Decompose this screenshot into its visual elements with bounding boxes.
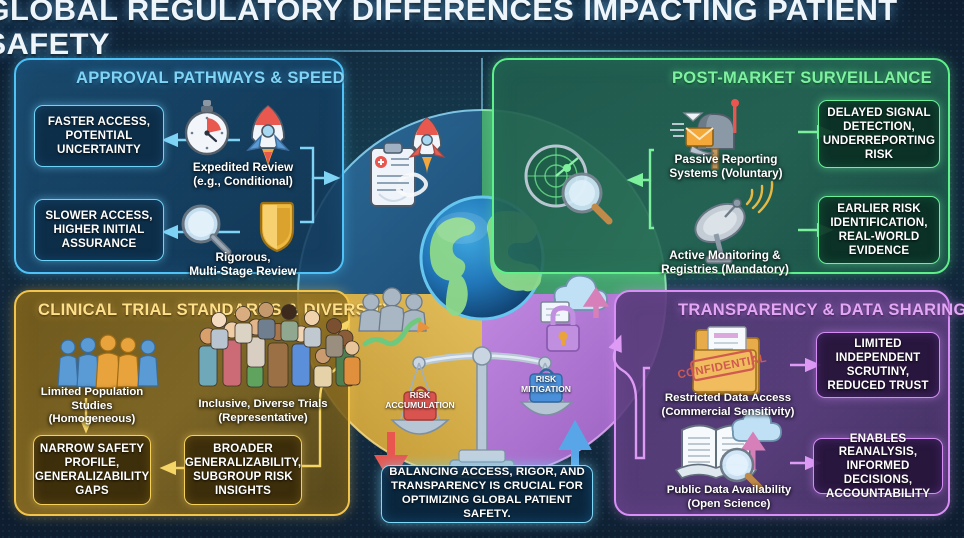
infographic-canvas: GLOBAL REGULATORY DIFFERENCES IMPACTING … xyxy=(0,0,964,538)
driver-label-rigorous-review: Rigorous, Multi-Stage Review xyxy=(178,250,308,278)
title-underline xyxy=(172,50,792,52)
outcome-box-limited-scrutiny[interactable]: LIMITED INDEPENDENT SCRUTINY, REDUCED TR… xyxy=(816,332,940,398)
quadrant-title-clinical: CLINICAL TRIAL STANDARDS & DIVERSITY xyxy=(38,301,393,320)
outcome-box-earlier-risk[interactable]: EARLIER RISK IDENTIFICATION, REAL-WORLD … xyxy=(818,196,940,264)
cloud-lock-icon xyxy=(541,276,607,351)
driver-label-expedited-review: Expedited Review (e.g., Conditional) xyxy=(178,160,308,188)
driver-label-restricted-data: Restricted Data Access (Commercial Sensi… xyxy=(656,392,800,419)
scale-label-risk-mitigation: RISK MITIGATION xyxy=(508,375,584,394)
clipboard-medical-icon xyxy=(371,143,415,206)
page-title: GLOBAL REGULATORY DIFFERENCES IMPACTING … xyxy=(0,0,964,62)
driver-label-passive-reporting: Passive Reporting Systems (Voluntary) xyxy=(656,152,796,180)
page-title-bar: GLOBAL REGULATORY DIFFERENCES IMPACTING … xyxy=(0,4,964,52)
quadrant-title-postmarket: POST-MARKET SURVEILLANCE xyxy=(672,69,932,88)
scale-label-risk-accumulation: RISK ACCUMULATION xyxy=(381,391,459,410)
outcome-box-delayed-signal[interactable]: DELAYED SIGNAL DETECTION, UNDERREPORTING… xyxy=(818,100,940,168)
outcome-box-narrow-safety[interactable]: NARROW SAFETY PROFILE, GENERALIZABILITY … xyxy=(33,435,151,505)
summary-statement-box[interactable]: BALANCING ACCESS, RIGOR, AND TRANSPARENC… xyxy=(381,465,593,523)
quadrant-title-transparency: TRANSPARENCY & DATA SHARING xyxy=(678,301,964,320)
driver-label-inclusive-diverse: Inclusive, Diverse Trials (Representativ… xyxy=(188,398,338,425)
driver-label-public-data: Public Data Availability (Open Science) xyxy=(662,484,796,511)
quadrant-title-approval: APPROVAL PATHWAYS & SPEED xyxy=(76,69,345,88)
outcome-box-enables-reanalysis[interactable]: ENABLES REANALYSIS, INFORMED DECISIONS, … xyxy=(813,438,943,494)
outcome-box-slower-access[interactable]: SLOWER ACCESS, HIGHER INITIAL ASSURANCE xyxy=(34,199,164,261)
rocket-icon-center xyxy=(398,118,444,195)
driver-label-active-monitoring: Active Monitoring & Registries (Mandator… xyxy=(650,248,800,276)
outcome-box-broader-generalizability[interactable]: BROADER GENERALIZABILITY, SUBGROUP RISK … xyxy=(184,435,302,505)
driver-label-limited-population: Limited Population Studies (Homogeneous) xyxy=(22,386,162,427)
outcome-box-faster-access[interactable]: FASTER ACCESS, POTENTIAL UNCERTAINTY xyxy=(34,105,164,167)
